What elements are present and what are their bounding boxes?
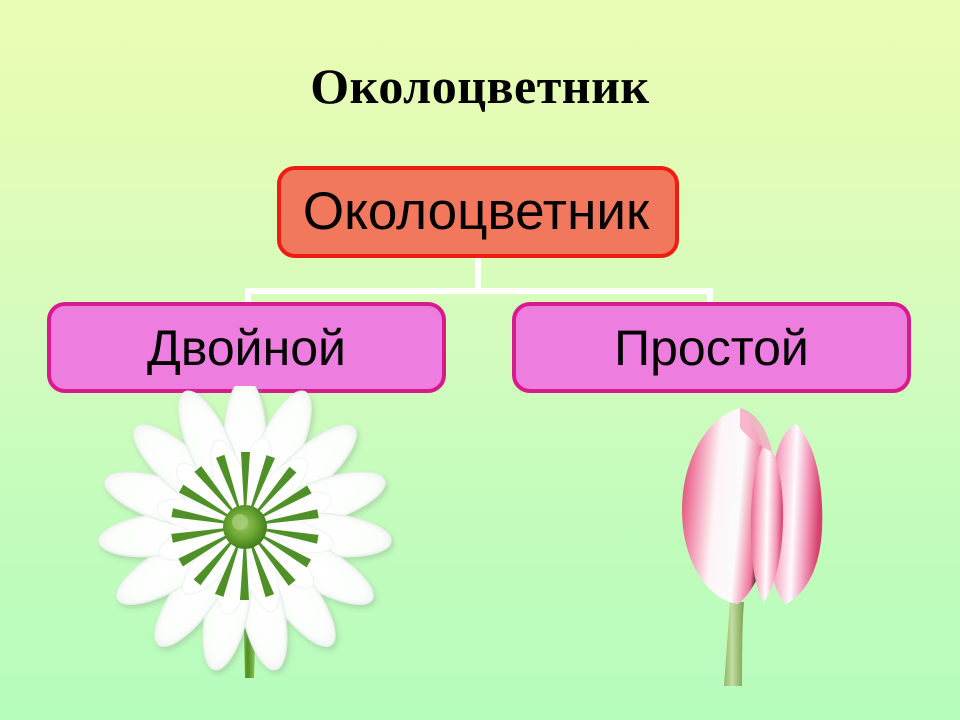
diagram-node-simple-label: Простой [614,321,809,375]
page-title: Околоцветник [0,58,960,114]
connector-horizontal-bar [245,288,713,294]
diagram-node-root-label: Околоцветник [303,184,649,240]
diagram-node-double-label: Двойной [147,321,346,375]
diagram-node-double[interactable]: Двойной [47,302,446,393]
tulip-flower-image [620,390,870,690]
daisy-flower-image [95,386,395,692]
diagram-node-simple[interactable]: Простой [512,302,911,393]
connector-stem-vertical [475,256,481,292]
slide-canvas: Околоцветник Околоцветник Двойной Просто… [0,0,960,720]
diagram-node-root[interactable]: Околоцветник [277,166,679,258]
